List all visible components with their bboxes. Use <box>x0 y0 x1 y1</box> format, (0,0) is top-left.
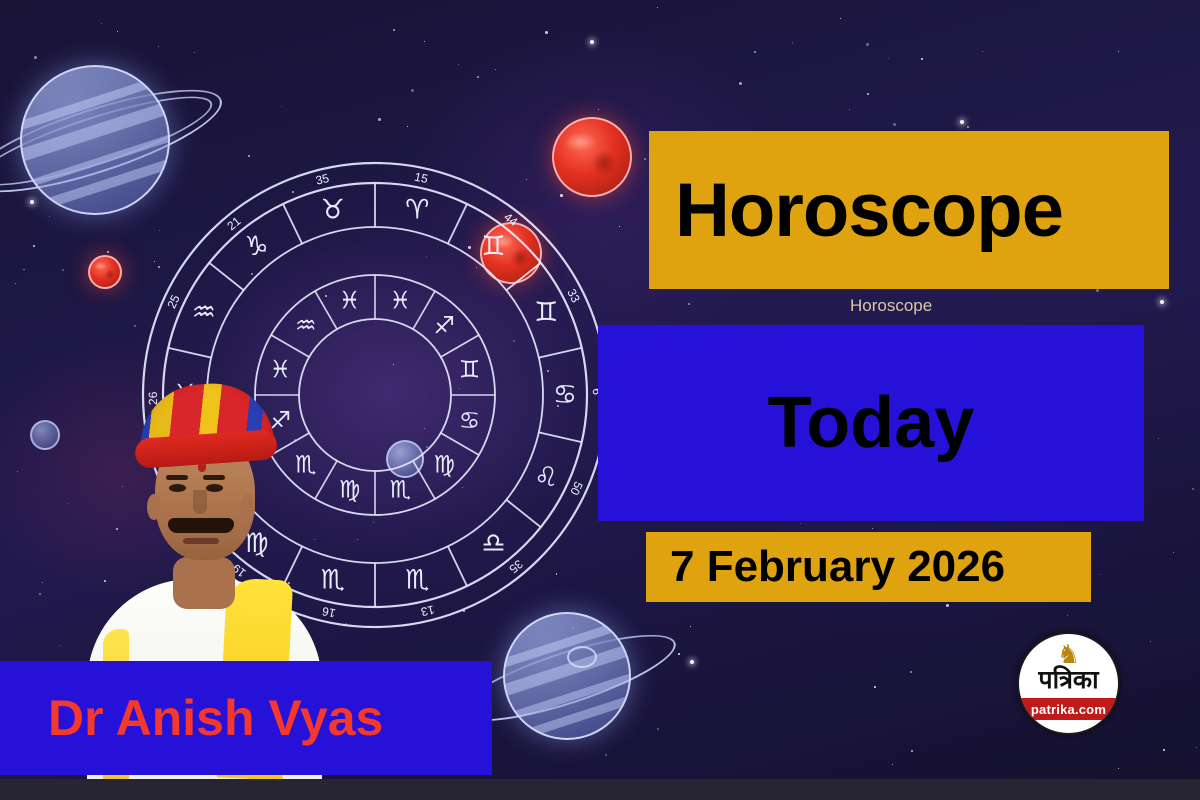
svg-text:♐: ♐ <box>434 312 456 340</box>
svg-text:♊: ♊ <box>481 231 505 262</box>
svg-text:13: 13 <box>419 602 436 619</box>
headline-banner: Horoscope <box>649 131 1169 289</box>
svg-text:25: 25 <box>164 292 182 310</box>
moustache <box>168 518 234 533</box>
eyebrow-left <box>166 475 188 480</box>
mouth <box>183 538 219 544</box>
svg-text:♑: ♑ <box>244 231 268 262</box>
svg-text:♋: ♋ <box>553 380 577 411</box>
nose <box>193 490 207 514</box>
svg-text:♉: ♉ <box>321 194 345 225</box>
today-banner: Today <box>598 325 1144 521</box>
date-banner: 7 February 2026 <box>646 532 1091 602</box>
svg-text:♎: ♎ <box>481 528 505 559</box>
svg-text:♓: ♓ <box>390 286 412 314</box>
eye-left <box>169 484 186 492</box>
svg-text:35: 35 <box>314 171 331 188</box>
logo-domain-text: patrika.com <box>1031 702 1106 717</box>
patrika-logo[interactable]: ♞ पत्रिका patrika.com <box>1017 632 1120 735</box>
headline-text: Horoscope <box>675 167 1063 254</box>
small-grey-planet-icon <box>30 420 60 450</box>
presenter-name-banner: Dr Anish Vyas <box>0 661 492 775</box>
lion-icon: ♞ <box>1057 641 1080 667</box>
svg-text:♒: ♒ <box>295 312 317 340</box>
svg-text:♍: ♍ <box>339 476 361 504</box>
svg-text:♏: ♏ <box>390 476 412 504</box>
svg-text:33: 33 <box>564 287 583 305</box>
svg-text:♏: ♏ <box>321 565 345 596</box>
patrika-devanagari-text: पत्रिका <box>1019 667 1118 692</box>
small-red-planet-icon <box>88 255 122 289</box>
svg-text:15: 15 <box>413 170 429 187</box>
svg-text:♋: ♋ <box>459 406 481 434</box>
svg-text:♒: ♒ <box>192 297 216 328</box>
svg-text:♓: ♓ <box>339 286 361 314</box>
svg-text:♈: ♈ <box>405 194 429 225</box>
svg-text:♍: ♍ <box>434 450 456 478</box>
logo-domain-bar: patrika.com <box>1019 698 1118 720</box>
svg-text:♊: ♊ <box>459 356 481 384</box>
svg-text:50: 50 <box>567 479 585 497</box>
svg-text:16: 16 <box>321 604 337 621</box>
ear-left <box>147 494 161 520</box>
subtitle-text: Horoscope <box>850 296 932 316</box>
neck <box>173 557 235 609</box>
ear-right <box>241 494 255 520</box>
date-text: 7 February 2026 <box>670 542 1005 592</box>
svg-text:♊: ♊ <box>534 297 558 328</box>
horoscope-card: ♈♊♊♋♌♎♏♏♍♐♓♒♑♉♓♐♊♋♍♏♍♏♐♓♒♓15443365035131… <box>0 0 1200 800</box>
today-text: Today <box>768 382 975 464</box>
eye-right <box>206 484 223 492</box>
presenter-name-text: Dr Anish Vyas <box>48 689 383 747</box>
svg-text:♏: ♏ <box>405 565 429 596</box>
jupiter-planet-icon <box>503 612 631 740</box>
svg-text:♌: ♌ <box>534 462 558 493</box>
eyebrow-right <box>203 475 225 480</box>
bottom-strip <box>0 779 1200 800</box>
